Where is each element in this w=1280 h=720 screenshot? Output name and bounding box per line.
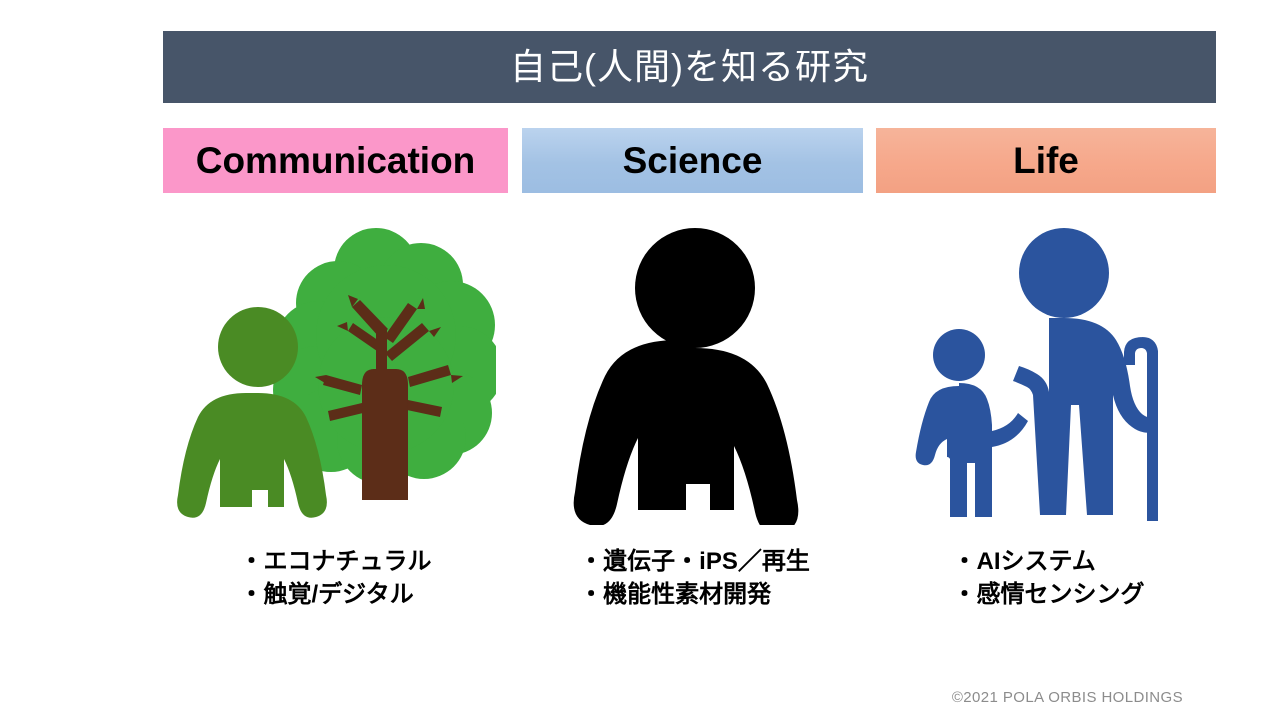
adult-figure-icon: [1013, 228, 1158, 521]
slide-title-bar: 自己(人間)を知る研究: [163, 31, 1216, 103]
category-label-life: Life: [1013, 142, 1079, 179]
page-title: 自己(人間)を知る研究: [510, 49, 869, 85]
person-figure-icon: [555, 225, 835, 525]
category-column-science: ・遺伝子・iPS／再生 ・機能性素材開発: [522, 225, 867, 611]
child-figure-icon: [915, 329, 1027, 517]
category-label-science: Science: [623, 142, 763, 179]
elderly-with-child-icon: [909, 225, 1189, 525]
category-bar-life: Life: [876, 128, 1216, 193]
caption-communication: ・エコナチュラル ・触覚/デジタル: [240, 545, 432, 611]
category-bar-communication: Communication: [163, 128, 508, 193]
person-silhouette-icon: [573, 228, 798, 525]
caption-line: ・遺伝子・iPS／再生: [579, 545, 810, 578]
copyright-notice: ©2021 POLA ORBIS HOLDINGS: [0, 690, 1183, 705]
illustration-science: [555, 225, 835, 525]
caption-line: ・機能性素材開発: [579, 578, 810, 611]
caption-line: ・AIシステム: [953, 545, 1145, 578]
caption-line: ・エコナチュラル: [240, 545, 432, 578]
illustration-life: [909, 225, 1189, 525]
caption-life: ・AIシステム ・感情センシング: [953, 545, 1145, 611]
caption-line: ・触覚/デジタル: [240, 578, 432, 611]
category-bar-science: Science: [522, 128, 863, 193]
caption-science: ・遺伝子・iPS／再生 ・機能性素材開発: [579, 545, 810, 611]
illustration-communication: [176, 225, 496, 525]
category-label-communication: Communication: [196, 142, 476, 179]
category-column-life: ・AIシステム ・感情センシング: [876, 225, 1221, 611]
caption-line: ・感情センシング: [953, 578, 1145, 611]
category-column-communication: ・エコナチュラル ・触覚/デジタル: [163, 225, 508, 611]
person-and-tree-icon: [176, 225, 496, 525]
